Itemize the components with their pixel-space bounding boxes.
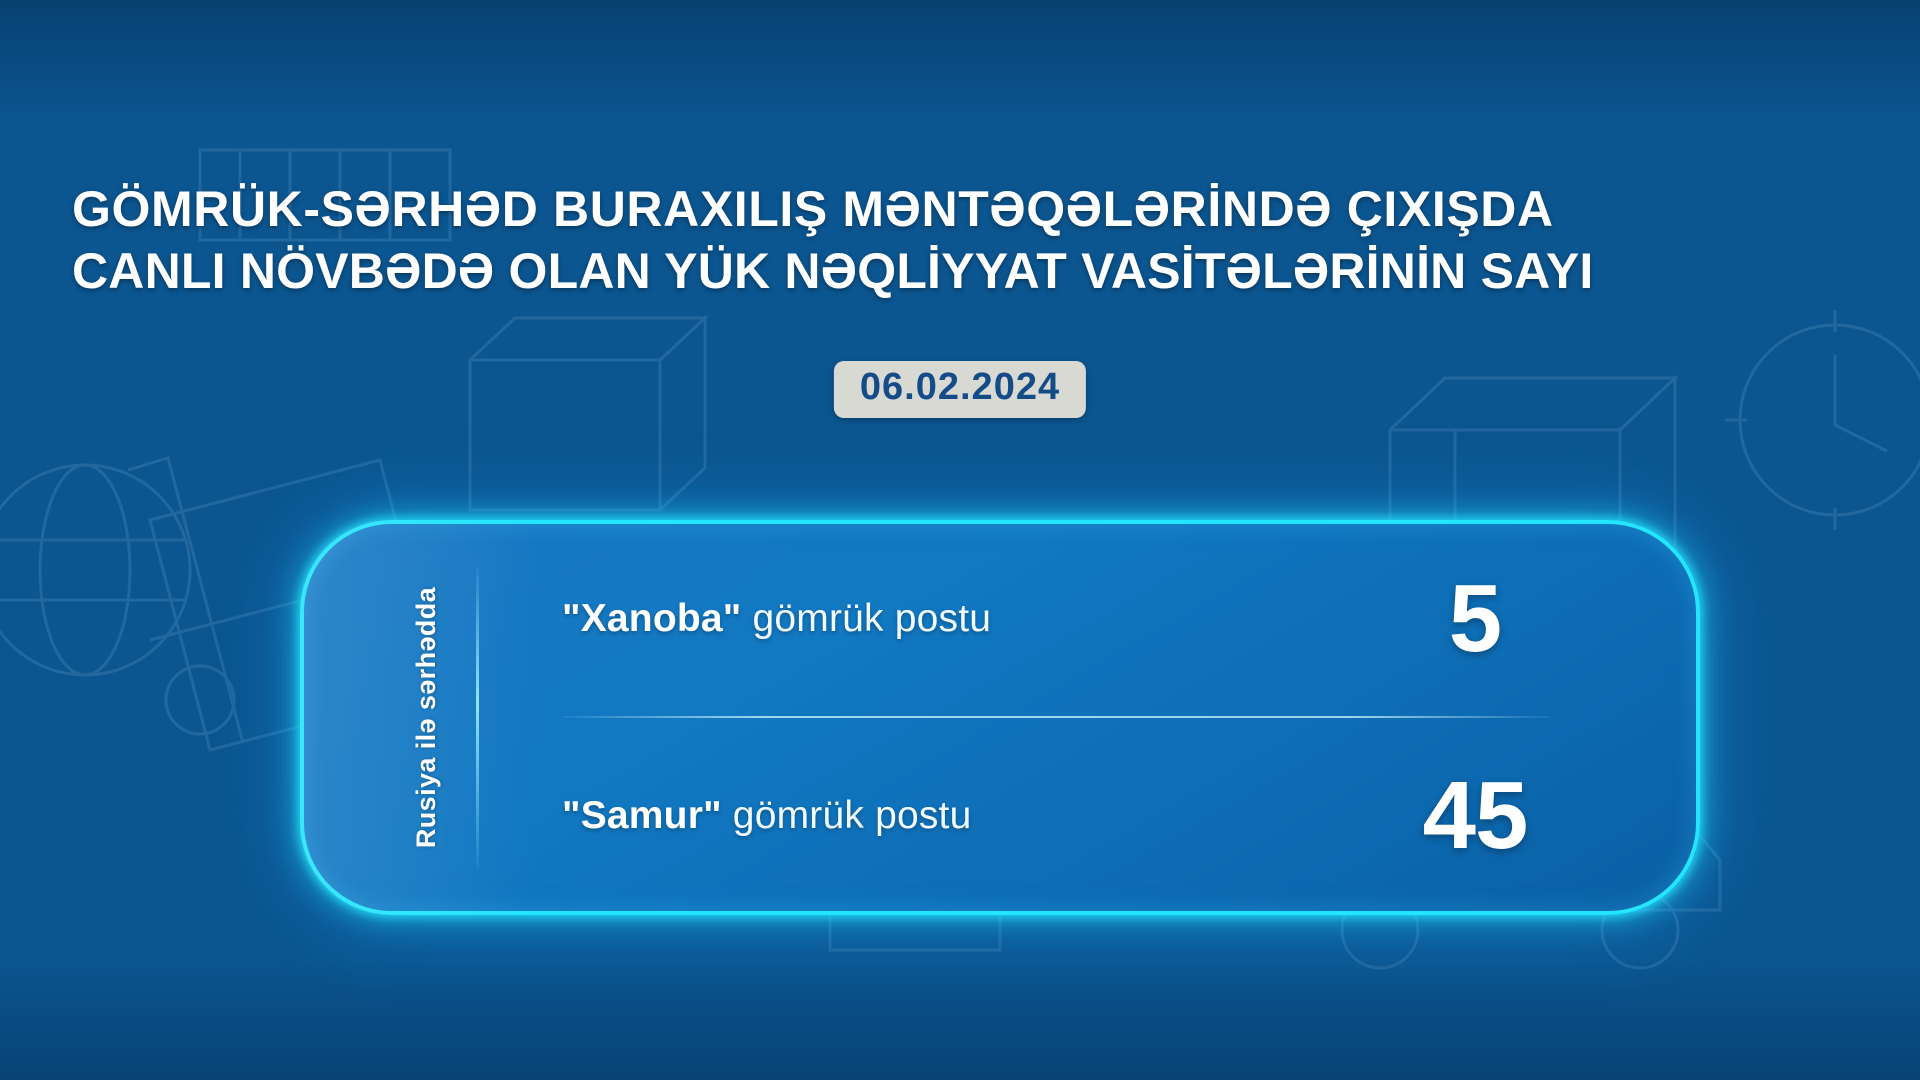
bottom-gradient-band <box>0 960 1920 1080</box>
infographic-canvas: GÖMRÜK-SƏRHƏD BURAXILIŞ MƏNTƏQƏLƏRİNDƏ Ç… <box>0 0 1920 1080</box>
row-label-xanoba-rest: gömrük postu <box>741 597 991 640</box>
card-side-divider <box>476 566 479 869</box>
data-card: Rusiya ilə sərhədda "Xanoba" gömrük post… <box>300 520 1700 915</box>
row-label-samur-rest: gömrük postu <box>722 794 972 837</box>
top-gradient-band <box>0 0 1920 120</box>
page-title: GÖMRÜK-SƏRHƏD BURAXILIŞ MƏNTƏQƏLƏRİNDƏ Ç… <box>72 178 1862 302</box>
title-line-2: CANLI NÖVBƏDƏ OLAN YÜK NƏQLİYYAT VASİTƏL… <box>72 240 1862 302</box>
row-label-samur-bold: "Samur" <box>562 794 722 837</box>
row-label-samur: "Samur" gömrük postu <box>562 794 1380 838</box>
row-label-xanoba: "Xanoba" gömrük postu <box>562 597 1380 641</box>
table-row: "Samur" gömrük postu 45 <box>496 718 1660 916</box>
row-value-xanoba: 5 <box>1380 571 1570 667</box>
row-label-xanoba-bold: "Xanoba" <box>562 597 741 640</box>
title-line-1: GÖMRÜK-SƏRHƏD BURAXILIŞ MƏNTƏQƏLƏRİNDƏ Ç… <box>72 178 1862 240</box>
date-badge: 06.02.2024 <box>834 361 1086 418</box>
card-side-label: Rusiya ilə sərhədda <box>396 520 458 915</box>
table-row: "Xanoba" gömrük postu 5 <box>496 520 1660 718</box>
card-inner: Rusiya ilə sərhədda "Xanoba" gömrük post… <box>300 520 1700 915</box>
row-value-samur: 45 <box>1380 768 1570 864</box>
card-rows: "Xanoba" gömrük postu 5 "Samur" gömrük p… <box>496 520 1660 915</box>
card-side-label-text: Rusiya ilə sərhədda <box>412 587 443 848</box>
